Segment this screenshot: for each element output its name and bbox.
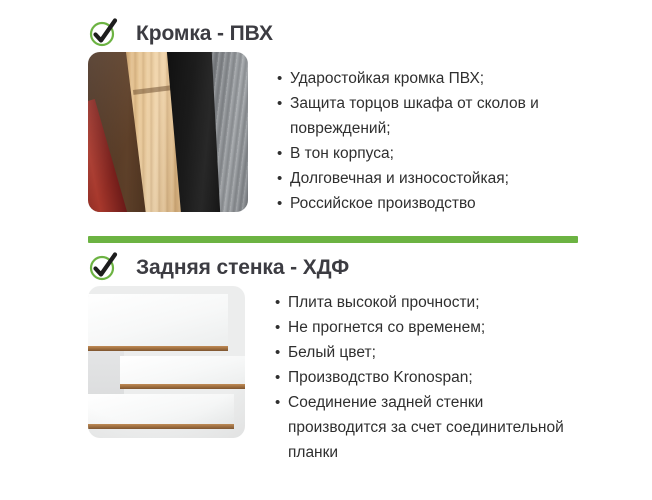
section-title-edge-banding: Кромка - ПВХ xyxy=(136,23,273,44)
section-header-edge-banding: Кромка - ПВХ xyxy=(0,14,652,52)
section-edge-banding: Кромка - ПВХ Ударостойкая кромка ПВХ; За… xyxy=(0,14,652,216)
list-item: Долговечная и износостойкая; xyxy=(277,166,587,191)
photo-vignette-overlay xyxy=(88,286,245,438)
list-item: Соединение задней стенки производится за… xyxy=(275,390,585,465)
photo-gloss-overlay xyxy=(88,52,248,212)
feature-list-back-panel: Плита высокой прочности; Не прогнется со… xyxy=(275,290,585,465)
section-divider xyxy=(88,236,578,243)
section-back-panel: Задняя стенка - ХДФ Плита высокой прочно… xyxy=(0,248,652,465)
hdf-panels-photo xyxy=(88,286,245,438)
list-item: Ударостойкая кромка ПВХ; xyxy=(277,66,587,91)
list-item: Производство Kronospan; xyxy=(275,365,585,390)
list-item: Защита торцов шкафа от сколов и поврежде… xyxy=(277,91,587,141)
green-check-circle-icon xyxy=(88,18,118,48)
green-check-circle-icon xyxy=(88,252,118,282)
feature-list-edge-banding: Ударостойкая кромка ПВХ; Защита торцов ш… xyxy=(277,66,587,216)
pvc-edge-banding-photo xyxy=(88,52,248,212)
section-body-edge-banding: Ударостойкая кромка ПВХ; Защита торцов ш… xyxy=(0,52,652,216)
list-item: Плита высокой прочности; xyxy=(275,290,585,315)
list-item: Российское производство xyxy=(277,191,587,216)
product-features-page: Кромка - ПВХ Ударостойкая кромка ПВХ; За… xyxy=(0,0,652,500)
section-body-back-panel: Плита высокой прочности; Не прогнется со… xyxy=(0,286,652,465)
list-item: Не прогнется со временем; xyxy=(275,315,585,340)
list-item: Белый цвет; xyxy=(275,340,585,365)
section-title-back-panel: Задняя стенка - ХДФ xyxy=(136,257,349,278)
section-header-back-panel: Задняя стенка - ХДФ xyxy=(0,248,652,286)
list-item: В тон корпуса; xyxy=(277,141,587,166)
